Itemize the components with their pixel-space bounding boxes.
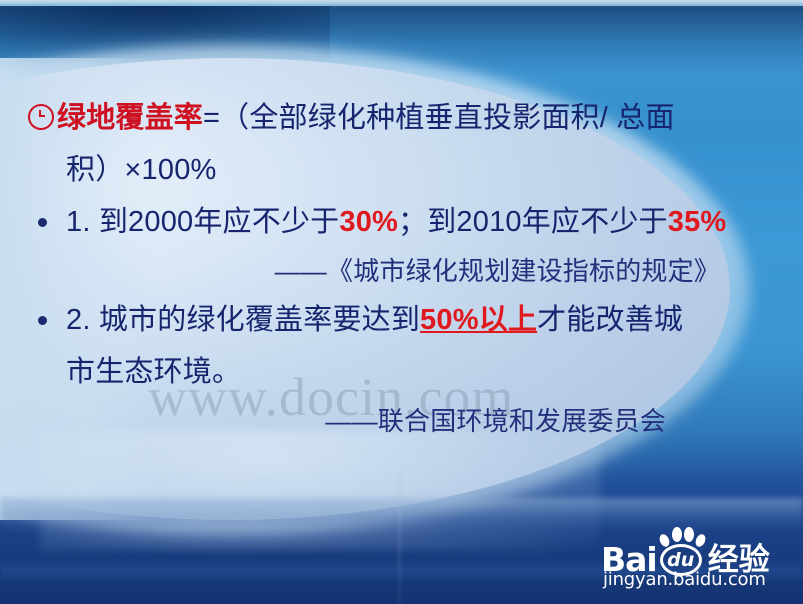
point-2-line-2: 市生态环境。 [28,346,776,398]
baidu-jingyan-watermark: Bai du 经验 jingyan.baidu.com [601,516,787,590]
point-2-row: 2. 城市的绿化覆盖率要达到50%以上才能改善城 [28,294,776,346]
baidu-url-text: jingyan.baidu.com [603,569,766,590]
paw-toe-icon [693,533,707,549]
point-2-prefix: 2. 城市的绿化覆盖率要达到 [66,304,420,336]
bullet-dot-icon [38,316,47,325]
paw-toe-icon [684,527,694,542]
point-1-citation: ——《城市绿化规划建设指标的规定》 [28,248,776,294]
point-1-value-1: 30% [339,206,398,238]
point-2-citation: ——联合国环境和发展委员会 [28,398,776,444]
definition-formula-line-2: 积）×100% [66,154,217,186]
point-1-prefix: 1. 到2000年应不少于 [66,206,339,238]
definition-line-1: 绿地覆盖率=（全部绿化种植垂直投影面积/ 总面 [28,92,776,144]
point-2-value-1: 50%以上 [420,304,537,336]
point-1-middle: ；到2010年应不少于 [398,206,668,238]
point-1-row: 1. 到2000年应不少于30%；到2010年应不少于35% [28,196,776,248]
definition-formula-line-1: =（全部绿化种植垂直投影面积/ 总面 [203,102,675,134]
clock-icon [28,104,54,130]
slide-body: 绿地覆盖率=（全部绿化种植垂直投影面积/ 总面 积）×100% 1. 到2000… [28,92,776,444]
point-1-value-2: 35% [668,206,727,238]
background-vertical-seam [398,470,401,604]
background-lower-glow [40,430,600,550]
definition-term: 绿地覆盖率 [57,102,203,134]
point-2-suffix-line-2: 市生态环境。 [66,356,241,388]
slide-canvas: www.docin.com 绿地覆盖率=（全部绿化种植垂直投影面积/ 总面 积）… [0,0,803,604]
paw-toe-icon [672,527,682,542]
bullet-dot-icon [38,218,47,227]
point-2-suffix-line-1: 才能改善城 [537,304,683,336]
definition-line-2: 积）×100% [28,144,776,196]
